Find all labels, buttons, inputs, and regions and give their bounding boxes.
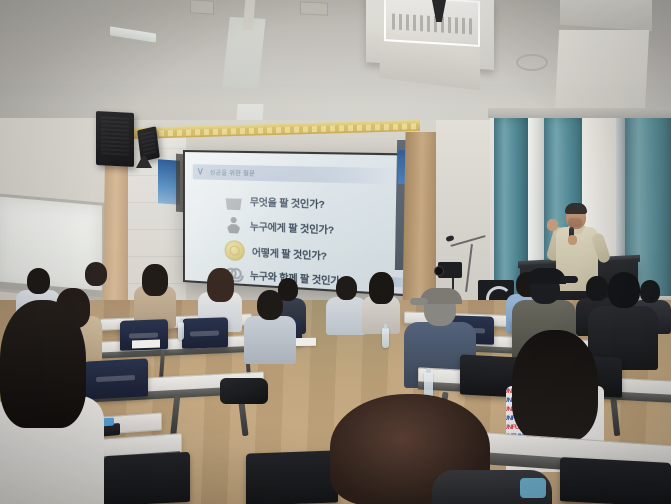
attendee-long-hair-front bbox=[0, 300, 104, 504]
attendee-hair bbox=[0, 300, 86, 428]
attendee-head bbox=[336, 276, 357, 300]
attendee-head bbox=[85, 262, 107, 286]
chair-row2[interactable] bbox=[182, 317, 228, 349]
water-bottle bbox=[178, 322, 184, 340]
attendee-head bbox=[608, 272, 640, 308]
slide-bullet-row: 누구에게 팔 것인가? bbox=[225, 216, 334, 239]
attendee-hair bbox=[207, 268, 234, 302]
slide-bullet-text: 무엇을 팔 것인가? bbox=[250, 194, 325, 211]
gold-coin-icon bbox=[225, 240, 245, 261]
cap-brim bbox=[560, 276, 578, 283]
slide-title: 성공을 위한 질문 bbox=[210, 168, 256, 178]
ceiling-vent bbox=[190, 0, 214, 15]
cap-brim bbox=[410, 298, 428, 305]
attendee-mid-left bbox=[244, 290, 296, 360]
attendee-row1-right-b bbox=[326, 276, 366, 332]
chair-foreground[interactable] bbox=[560, 457, 671, 504]
attendee-torso bbox=[326, 297, 366, 335]
wooden-pillar-center bbox=[402, 132, 439, 312]
presenter-mic-hand bbox=[568, 235, 577, 245]
slide-bullet-text: 어떻게 팔 것인가? bbox=[252, 244, 327, 262]
curtain-rail bbox=[488, 108, 671, 118]
presenter-face-shadow bbox=[568, 218, 582, 227]
attendee-row1-c bbox=[134, 264, 176, 326]
handout-paper bbox=[132, 340, 160, 349]
ceiling-speaker-grille bbox=[516, 54, 548, 71]
slide-bullet-row: 무엇을 팔 것인가? bbox=[225, 191, 325, 213]
attendee-torso bbox=[244, 316, 296, 364]
attendee-hair bbox=[512, 330, 598, 442]
water-bottle bbox=[382, 328, 389, 348]
camera-lens-icon bbox=[434, 266, 444, 276]
person-bust-icon bbox=[225, 216, 243, 235]
seminar-room-photo: V 성공을 위한 질문 무엇을 팔 것인가? 누구에게 팔 것인가? 어떻게 팔… bbox=[0, 0, 671, 504]
slide-title-bar: V 성공을 위한 질문 bbox=[193, 164, 400, 184]
chair-foreground[interactable] bbox=[104, 452, 190, 504]
backpack bbox=[220, 378, 268, 404]
attendee-row1-right-c bbox=[362, 272, 400, 330]
wall-speaker-left bbox=[96, 111, 134, 167]
attendee-head bbox=[257, 290, 283, 320]
attendee-hair bbox=[369, 272, 394, 304]
wall-speaker-left-small bbox=[137, 126, 160, 162]
ceiling-vent bbox=[300, 1, 328, 15]
projector-label bbox=[392, 14, 472, 35]
slide-title-marker: V bbox=[198, 167, 207, 176]
attendee-hair bbox=[142, 264, 168, 296]
presenter-hair bbox=[565, 203, 587, 214]
slide-bullet-row: 어떻게 팔 것인가? bbox=[225, 240, 327, 266]
water-bottle bbox=[520, 478, 546, 498]
shopping-basket-icon bbox=[225, 191, 243, 210]
chair-foreground[interactable] bbox=[246, 450, 338, 504]
ceiling-projector bbox=[384, 0, 480, 47]
slide-bullet-text: 누구에게 팔 것인가? bbox=[250, 219, 334, 237]
